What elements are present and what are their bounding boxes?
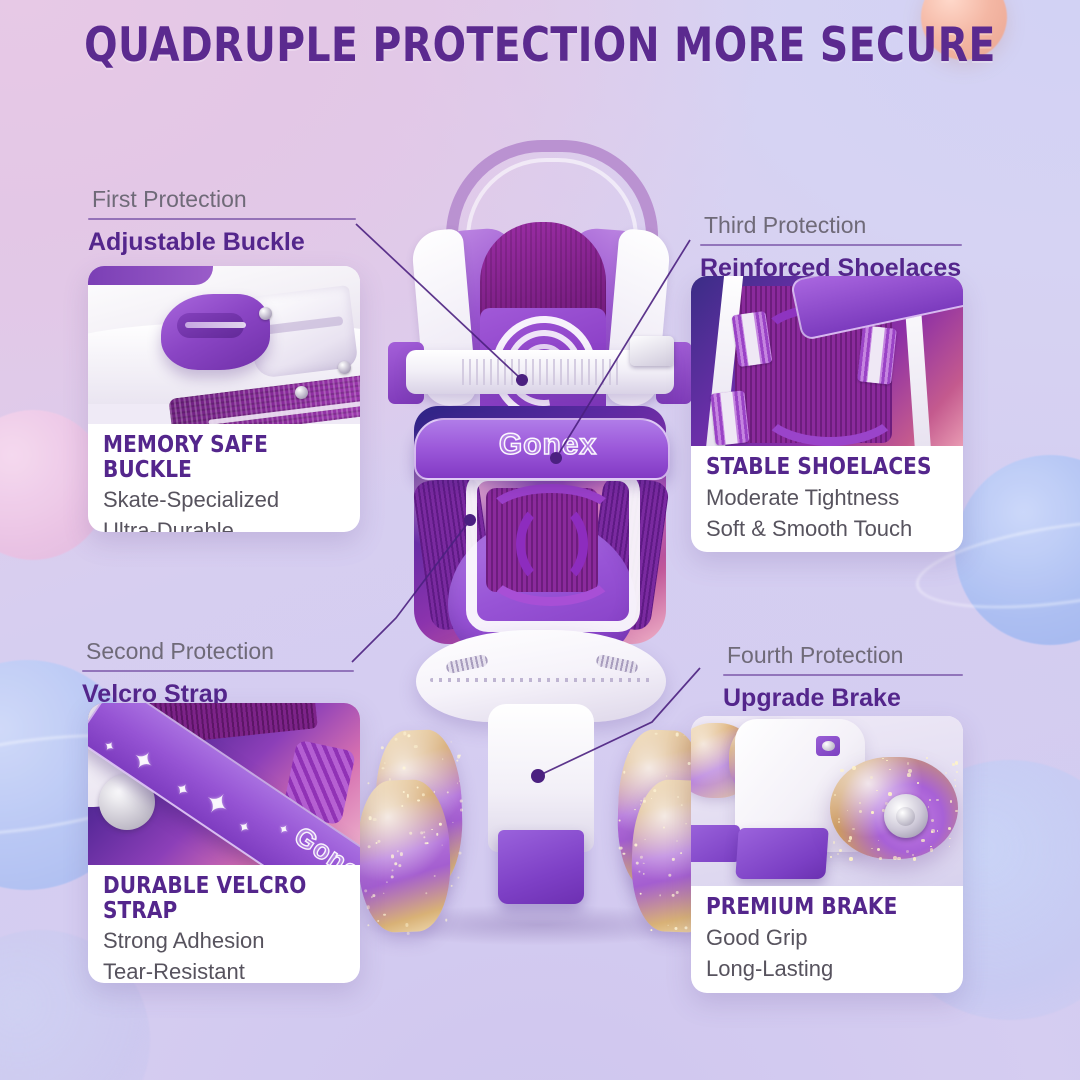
feature-photo-shoelaces [691,276,963,446]
product-hero-image: Gonex [330,118,750,918]
feature-card-line-2: Tear-Resistant [103,954,345,983]
toe-stop-brake [498,830,584,904]
sole-stitching [430,678,652,682]
feature-card-line-1: Skate-Specialized [103,482,345,513]
callout-divider [700,244,962,246]
feature-card-shoelaces[interactable]: STABLE SHOELACES Moderate Tightness Soft… [691,276,963,552]
callout-label-brake: Fourth Protection Upgrade Brake [723,642,963,714]
callout-kicker-shoelaces: Third Protection [700,212,962,244]
feature-card-title-velcro: DURABLE VELCRO STRAP [103,874,338,923]
strap-brand-text: Gonex [458,428,638,462]
callout-label-buckle: First Protection Adjustable Buckle [88,186,356,258]
callout-divider [88,218,356,220]
feature-card-title-brake: PREMIUM BRAKE [706,895,941,920]
callout-divider [82,670,354,672]
callout-kicker-velcro: Second Protection [82,638,354,670]
feature-card-title-shoelaces: STABLE SHOELACES [706,455,941,480]
feature-photo-brake [691,716,963,886]
feature-card-title-buckle: MEMORY SAFE BUCKLE [103,433,338,482]
feature-card-line-1: Good Grip [706,920,948,951]
feature-photo-buckle [88,266,360,424]
feature-card-brake[interactable]: PREMIUM BRAKE Good Grip Long-Lasting [691,716,963,993]
wheel-back-left [355,778,452,933]
feature-card-line-1: Strong Adhesion [103,923,345,954]
feature-card-buckle[interactable]: MEMORY SAFE BUCKLE Skate-Specialized Ult… [88,266,360,532]
infographic-canvas: QUADRUPLE PROTECTION MORE SECURE Gonex [0,0,1080,1080]
callout-label-shoelaces: Third Protection Reinforced Shoelaces [700,212,962,284]
page-title: QUADRUPLE PROTECTION MORE SECURE [38,18,1042,73]
callout-title-brake: Upgrade Brake [723,676,963,714]
feature-photo-velcro: Gonex ✦ ✦ ✦ ✦ ✦ ✦ [88,703,360,865]
callout-title-buckle: Adjustable Buckle [88,220,356,258]
feature-card-line-2: Long-Lasting [706,951,948,982]
lace-guard-frame [466,470,640,632]
callout-divider [723,674,963,676]
feature-card-velcro[interactable]: Gonex ✦ ✦ ✦ ✦ ✦ ✦ DURABLE VELCRO STRAP S… [88,703,360,983]
callout-kicker-buckle: First Protection [88,186,356,218]
feature-card-line-1: Moderate Tightness [706,480,948,511]
feature-card-line-2: Ultra-Durable [103,513,345,532]
callout-kicker-brake: Fourth Protection [723,642,963,674]
buckle-clip [630,336,674,366]
feature-card-line-2: Soft & Smooth Touch [706,511,948,542]
callout-label-velcro: Second Protection Velcro Strap [82,638,354,710]
